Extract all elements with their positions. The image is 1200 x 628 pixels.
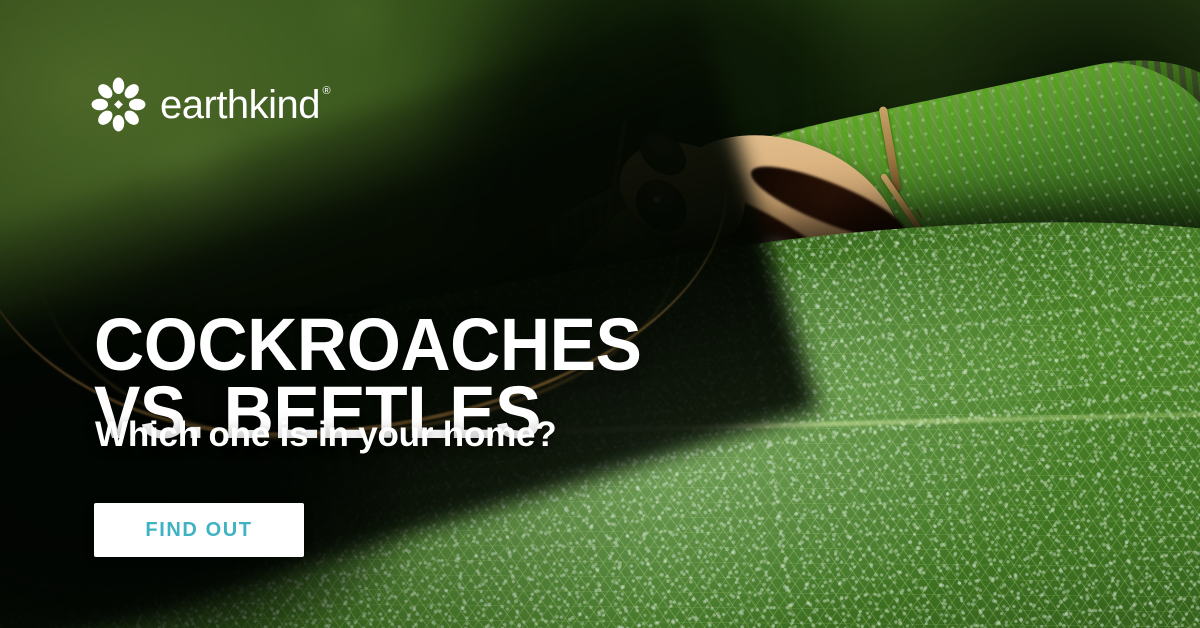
brand-wordmark: earthkind® [160,85,330,125]
flower-petal-mark-icon [91,77,146,132]
subheadline: Which one is in your home? [95,415,557,455]
registered-trademark-icon: ® [322,86,330,97]
hero-content: earthkind® COCKROACHES VS. BEETLES Which… [0,0,1200,628]
find-out-button[interactable]: FIND OUT [94,503,304,557]
brand-name: earthkind [160,83,320,127]
headline-line-1: COCKROACHES [94,311,641,379]
find-out-button-label: FIND OUT [145,519,252,542]
brand-logo[interactable]: earthkind® [91,77,330,132]
hero-banner: earthkind® COCKROACHES VS. BEETLES Which… [0,0,1200,628]
